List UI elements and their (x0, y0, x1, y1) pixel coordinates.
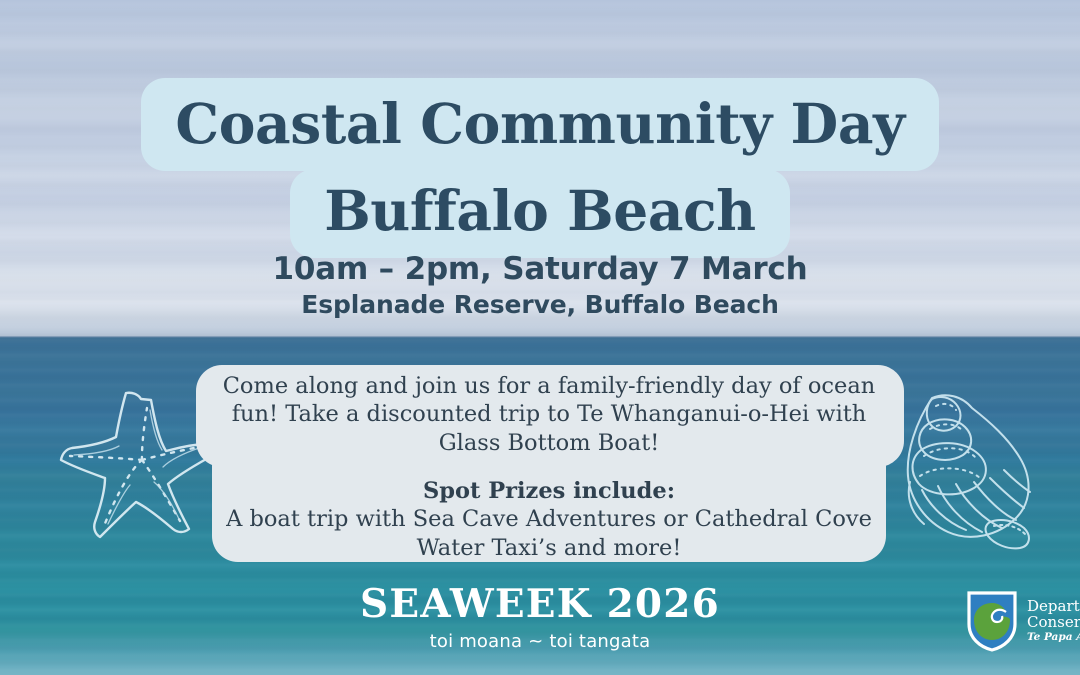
seaweek-tagline: toi moana ~ toi tangata (0, 633, 1080, 651)
poster-canvas: Coastal Community Day Buffalo Beach 10am… (0, 0, 1080, 675)
doc-logo: Department Conservation Te Papa Atawhai (966, 588, 1080, 654)
doc-shield-icon (966, 590, 1018, 652)
seaweek-branding: SEAWEEK 2026 toi moana ~ toi tangata (0, 585, 1080, 651)
body-card: Come along and join us for a family-frie… (0, 0, 1080, 675)
prizes-heading: Spot Prizes include: (212, 477, 886, 505)
doc-line-2: Conservation (1027, 615, 1080, 631)
doc-line-3: Te Papa Atawhai (1027, 632, 1080, 643)
body-paragraph-1: Come along and join us for a family-frie… (212, 372, 886, 457)
prizes-text: A boat trip with Sea Cave Adventures or … (226, 506, 872, 560)
seaweek-title: SEAWEEK 2026 (0, 585, 1080, 624)
doc-logo-text: Department Conservation Te Papa Atawhai (1027, 599, 1080, 643)
card-content: Come along and join us for a family-frie… (212, 372, 886, 562)
body-paragraph-2: Spot Prizes include: A boat trip with Se… (212, 477, 886, 562)
